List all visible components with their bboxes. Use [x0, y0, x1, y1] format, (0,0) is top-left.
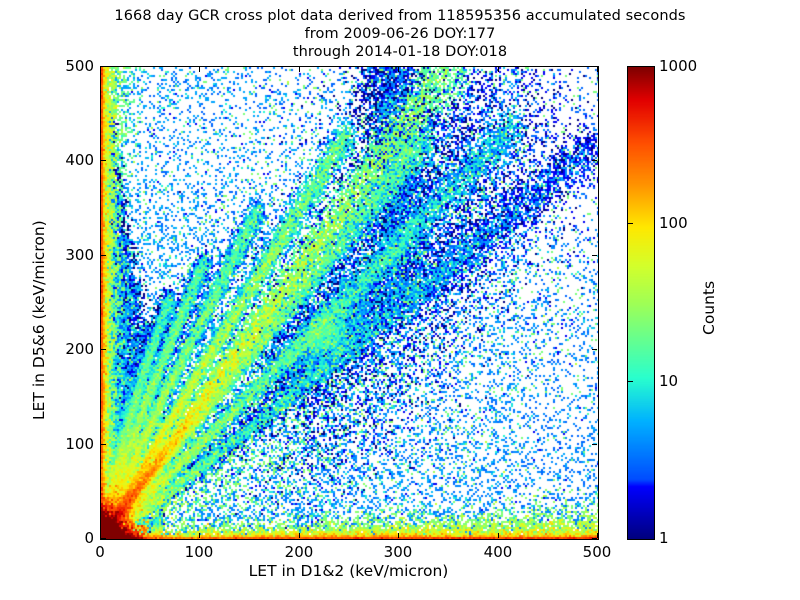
plot-title: 1668 day GCR cross plot data derived fro… — [0, 7, 800, 61]
colorbar-tick — [628, 381, 633, 382]
y-tick-left — [101, 349, 106, 350]
scatter-density-canvas — [101, 67, 598, 539]
x-tick-bottom — [398, 533, 399, 538]
x-tick-label: 500 — [567, 543, 627, 561]
y-tick-left — [101, 160, 106, 161]
x-tick-bottom — [597, 533, 598, 538]
x-tick-top — [299, 67, 300, 72]
x-tick-top — [100, 67, 101, 72]
colorbar-tick-label: 10 — [659, 372, 678, 390]
y-tick-right — [592, 255, 597, 256]
x-tick-bottom — [498, 533, 499, 538]
x-tick-label: 300 — [368, 543, 428, 561]
y-tick-label: 500 — [34, 57, 94, 75]
colorbar-label: Counts — [700, 281, 718, 335]
y-tick-right — [592, 66, 597, 67]
colorbar-tick-label: 1 — [659, 529, 669, 547]
colorbar-tick-label: 1000 — [659, 57, 697, 75]
colorbar-gradient — [628, 67, 654, 539]
x-tick-top — [597, 67, 598, 72]
plot-area — [100, 66, 599, 540]
x-tick-top — [498, 67, 499, 72]
y-tick-right — [592, 160, 597, 161]
y-tick-left — [101, 538, 106, 539]
y-tick-label: 400 — [34, 151, 94, 169]
x-tick-bottom — [299, 533, 300, 538]
x-tick-bottom — [199, 533, 200, 538]
figure-canvas: 1668 day GCR cross plot data derived fro… — [0, 0, 800, 600]
plot-title-line-1: 1668 day GCR cross plot data derived fro… — [0, 7, 800, 25]
y-tick-label: 100 — [34, 435, 94, 453]
colorbar-tick — [628, 223, 633, 224]
x-axis-label: LET in D1&2 (keV/micron) — [100, 562, 597, 580]
x-tick-label: 400 — [468, 543, 528, 561]
x-tick-top — [398, 67, 399, 72]
y-tick-left — [101, 66, 106, 67]
y-tick-left — [101, 255, 106, 256]
colorbar-tick-label: 100 — [659, 214, 688, 232]
x-tick-label: 100 — [169, 543, 229, 561]
plot-title-line-2: from 2009-06-26 DOY:177 — [0, 25, 800, 43]
y-tick-right — [592, 444, 597, 445]
y-axis-label: LET in D5&6 (keV/micron) — [30, 220, 48, 420]
x-tick-label: 200 — [269, 543, 329, 561]
y-tick-label: 0 — [34, 529, 94, 547]
y-tick-right — [592, 349, 597, 350]
y-tick-left — [101, 444, 106, 445]
y-tick-right — [592, 538, 597, 539]
x-tick-top — [199, 67, 200, 72]
colorbar — [627, 66, 655, 540]
